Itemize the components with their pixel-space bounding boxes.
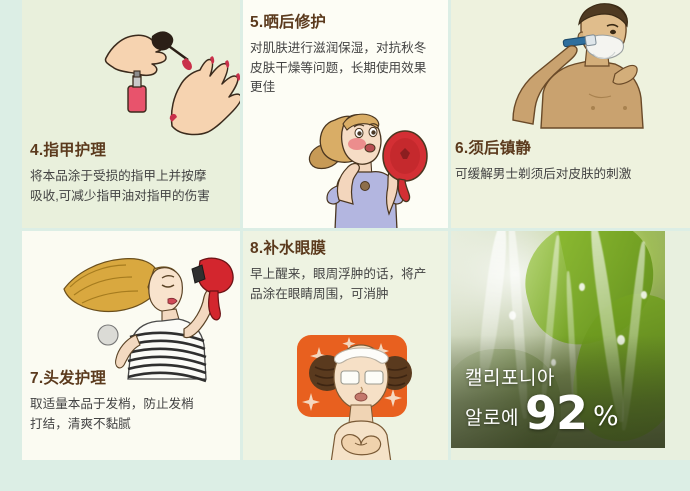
aloe-water-photo: 캘리포니아 알로에 92 % <box>451 231 665 448</box>
after-shave-heading: 6.须后镇静 <box>455 136 690 158</box>
after-sun-body: 对肌肤进行滋润保湿，对抗秋冬 皮肤干燥等问题，长期使用效果 更佳 <box>250 39 450 98</box>
eye-mask-text: 8.补水眼膜 早上醒来，眼周浮肿的话，将产 品涂在眼睛周围，可消肿 <box>250 236 450 304</box>
woman-hairdryer-illustration <box>50 239 235 384</box>
after-shave-text: 6.须后镇静 可缓解男士剃须后对皮肤的刺激 <box>455 136 690 185</box>
nail-care-body: 将本品涂于受损的指甲上并按摩 吸收,可减少指甲油对指甲的伤害 <box>30 167 245 206</box>
woman-eye-patches-illustration <box>291 331 431 460</box>
hair-care-text: 7.头发护理 取适量本品于发梢，防止发梢 打结，清爽不黏腻 <box>30 366 242 434</box>
woman-with-mirror-illustration <box>301 100 436 228</box>
aloe-caption: 캘리포니아 알로에 92 % <box>465 369 619 434</box>
eye-mask-heading: 8.补水眼膜 <box>250 236 450 258</box>
aloe-percentage-symbol: % <box>593 403 619 434</box>
eye-mask-body: 早上醒来，眼周浮肿的话，将产 品涂在眼睛周围，可消肿 <box>250 265 450 304</box>
after-shave-body: 可缓解男士剃须后对皮肤的刺激 <box>455 165 690 185</box>
water-droplet <box>579 283 585 291</box>
aloe-caption-line2: 알로에 <box>465 409 519 434</box>
after-sun-heading: 5.晒后修护 <box>250 10 450 32</box>
hand-nail-polish-illustration <box>100 14 240 134</box>
product-detail-page: 4.指甲护理 将本品涂于受损的指甲上并按摩 吸收,可减少指甲油对指甲的伤害 <box>0 0 690 491</box>
aloe-percentage-number: 92 <box>525 392 587 434</box>
nail-care-heading: 4.指甲护理 <box>30 138 245 160</box>
after-sun-text: 5.晒后修护 对肌肤进行滋润保湿，对抗秋冬 皮肤干燥等问题，长期使用效果 更佳 <box>250 10 450 98</box>
nail-care-text: 4.指甲护理 将本品涂于受损的指甲上并按摩 吸收,可减少指甲油对指甲的伤害 <box>30 138 245 206</box>
panel-after-shave <box>451 0 690 228</box>
aloe-caption-line1: 캘리포니아 <box>465 369 619 388</box>
man-shaving-illustration <box>489 2 649 128</box>
water-droplet <box>509 311 516 320</box>
hair-care-heading: 7.头发护理 <box>30 366 242 388</box>
hair-care-body: 取适量本品于发梢，防止发梢 打结，清爽不黏腻 <box>30 395 242 434</box>
water-droplet <box>641 291 647 299</box>
